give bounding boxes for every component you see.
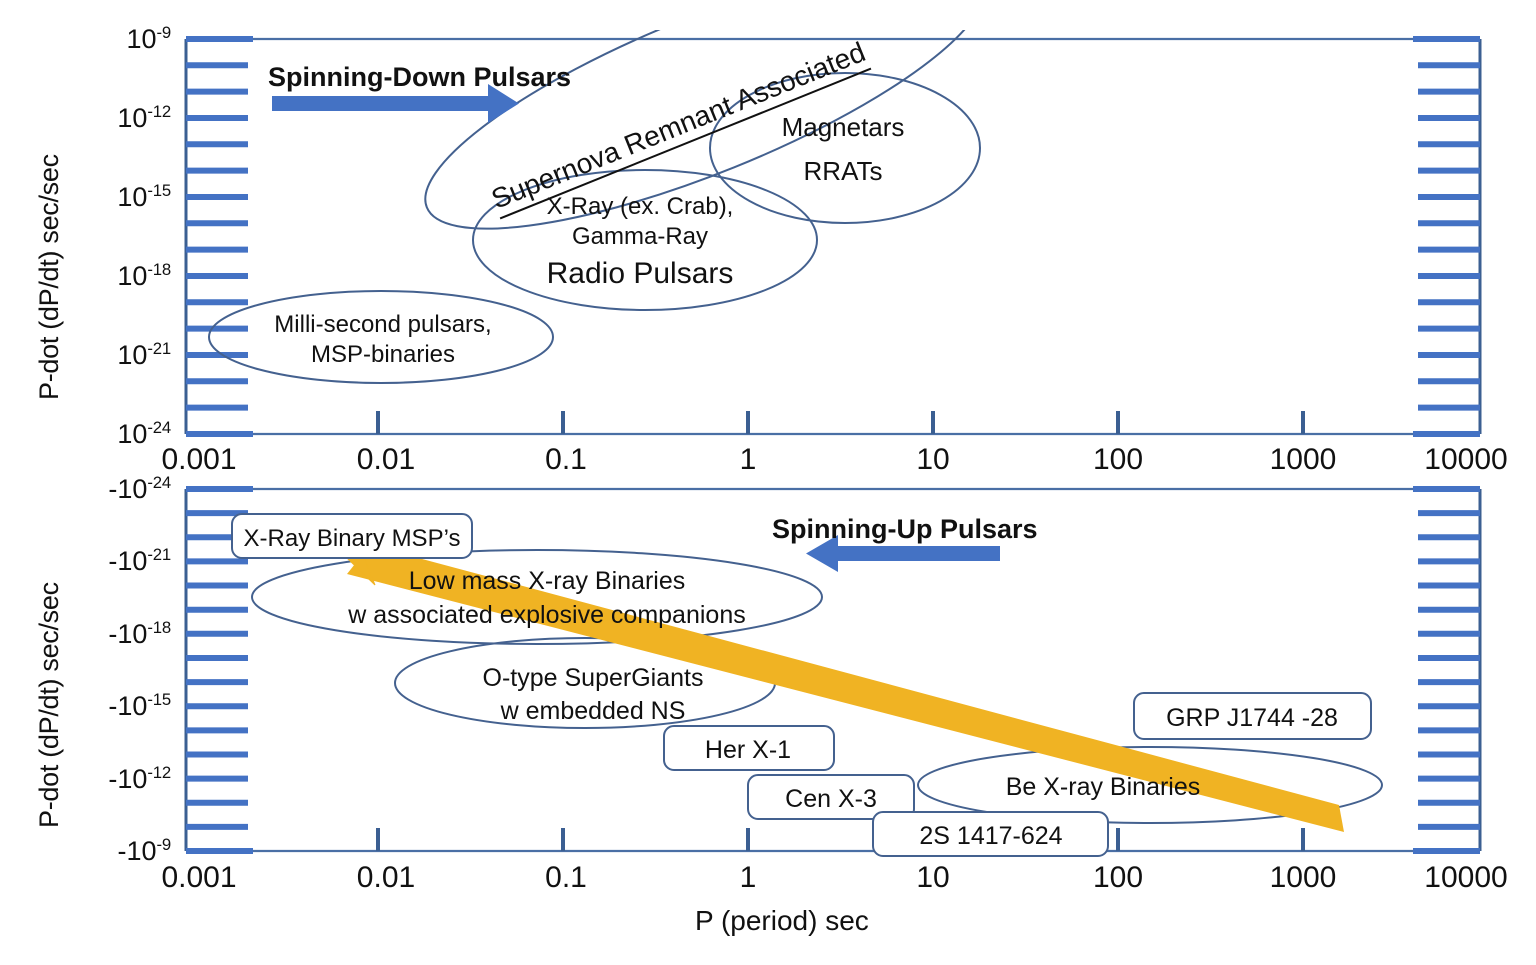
top-x-tick-label-3: 1: [740, 443, 757, 477]
bottom-x-tick-label-4: 10: [916, 861, 949, 895]
top-x-tick-label-0: 0.001: [161, 443, 236, 477]
exp: -9: [157, 23, 171, 42]
top-x-tick-label-1: 0.01: [357, 443, 415, 477]
millisecond-pulsars-label: Milli-second pulsars,: [274, 310, 491, 340]
diagram-graphics: [0, 0, 1536, 965]
top-y-tick-label-2: 10-15: [97, 181, 171, 213]
msp-binaries-label: MSP-binaries: [311, 340, 455, 370]
top-y-tick-label-5: 10-24: [97, 418, 171, 450]
her-x-1-label: Her X-1: [705, 735, 791, 766]
exp: -9: [157, 835, 171, 854]
x-axis-title: P (period) sec: [695, 905, 869, 937]
exp: -12: [147, 102, 171, 121]
exp: -18: [147, 618, 171, 637]
x-ray-crab-label: X-Ray (ex. Crab),: [547, 192, 734, 222]
bottom-y-tick-label-2: -10-18: [88, 618, 171, 650]
bottom-x-tick-label-2: 0.1: [545, 861, 587, 895]
low-mass-x-ray-binaries-line-2: w associated explosive companions: [348, 600, 745, 631]
exp: -15: [147, 181, 171, 200]
gamma-ray-label: Gamma-Ray: [572, 222, 708, 252]
top-y-tick-label-1: 10-12: [97, 102, 171, 134]
top-y-tick-label-3: 10-18: [97, 260, 171, 292]
exp: -21: [147, 339, 171, 358]
bottom-y-tick-label-4: -10-12: [88, 763, 171, 795]
bottom-y-tick-label-0: -10-24: [88, 473, 171, 505]
top-x-tick-label-7: 10000: [1424, 443, 1507, 477]
top-y-tick-label-0: 10-9: [105, 23, 171, 55]
bottom-y-tick-label-1: -10-21: [88, 545, 171, 577]
exp: -21: [147, 545, 171, 564]
exp: -18: [147, 260, 171, 279]
exp: -12: [147, 763, 171, 782]
rrats-label: RRATs: [804, 155, 883, 188]
bottom-x-tick-label-7: 10000: [1424, 861, 1507, 895]
bottom-x-tick-label-6: 1000: [1270, 861, 1337, 895]
bottom-x-tick-label-0: 0.001: [161, 861, 236, 895]
bottom-y-tick-label-5: -10-9: [88, 835, 171, 867]
magnetars-label: Magnetars: [782, 111, 905, 144]
o-type-supergiants-line-2: w embedded NS: [501, 696, 686, 727]
top-x-ticks: [378, 411, 1303, 434]
bottom-x-tick-label-3: 1: [740, 861, 757, 895]
top-x-tick-label-6: 1000: [1270, 443, 1337, 477]
bottom-x-tick-label-1: 0.01: [357, 861, 415, 895]
spinning-down-pulsars-label: Spinning-Down Pulsars: [268, 62, 571, 93]
grp-j1744-28-label: GRP J1744 -28: [1166, 703, 1338, 734]
x-ray-binary-msps-label: X-Ray Binary MSP’s: [244, 524, 461, 554]
pulsar-p-pdot-diagram: P-dot (dP/dt) sec/sec P-dot (dP/dt) sec/…: [0, 0, 1536, 965]
bottom-y-ticks-right: [1413, 489, 1480, 851]
top-y-axis-title: P-dot (dP/dt) sec/sec: [34, 154, 65, 400]
top-y-tick-label-4: 10-21: [97, 339, 171, 371]
top-x-tick-label-5: 100: [1093, 443, 1143, 477]
o-type-supergiants-line-1: O-type SuperGiants: [483, 663, 704, 694]
bottom-x-tick-label-5: 100: [1093, 861, 1143, 895]
top-x-tick-label-2: 0.1: [545, 443, 587, 477]
2s-1417-624-label: 2S 1417-624: [919, 821, 1062, 852]
exp: -15: [147, 690, 171, 709]
top-y-ticks-left: [186, 39, 253, 434]
bottom-y-axis-title: P-dot (dP/dt) sec/sec: [34, 582, 65, 828]
top-y-ticks-right: [1413, 39, 1480, 434]
be-x-ray-binaries-label: Be X-ray Binaries: [1006, 772, 1201, 803]
bottom-x-ticks: [378, 828, 1303, 851]
top-x-tick-label-4: 10: [916, 443, 949, 477]
low-mass-x-ray-binaries-line-1: Low mass X-ray Binaries: [409, 566, 685, 597]
cen-x-3-label: Cen X-3: [785, 784, 877, 815]
bottom-y-tick-label-3: -10-15: [88, 690, 171, 722]
spinning-up-pulsars-label: Spinning-Up Pulsars: [772, 514, 1038, 545]
exp: -24: [147, 418, 171, 437]
exp: -24: [147, 473, 171, 492]
radio-pulsars-label: Radio Pulsars: [547, 255, 734, 293]
